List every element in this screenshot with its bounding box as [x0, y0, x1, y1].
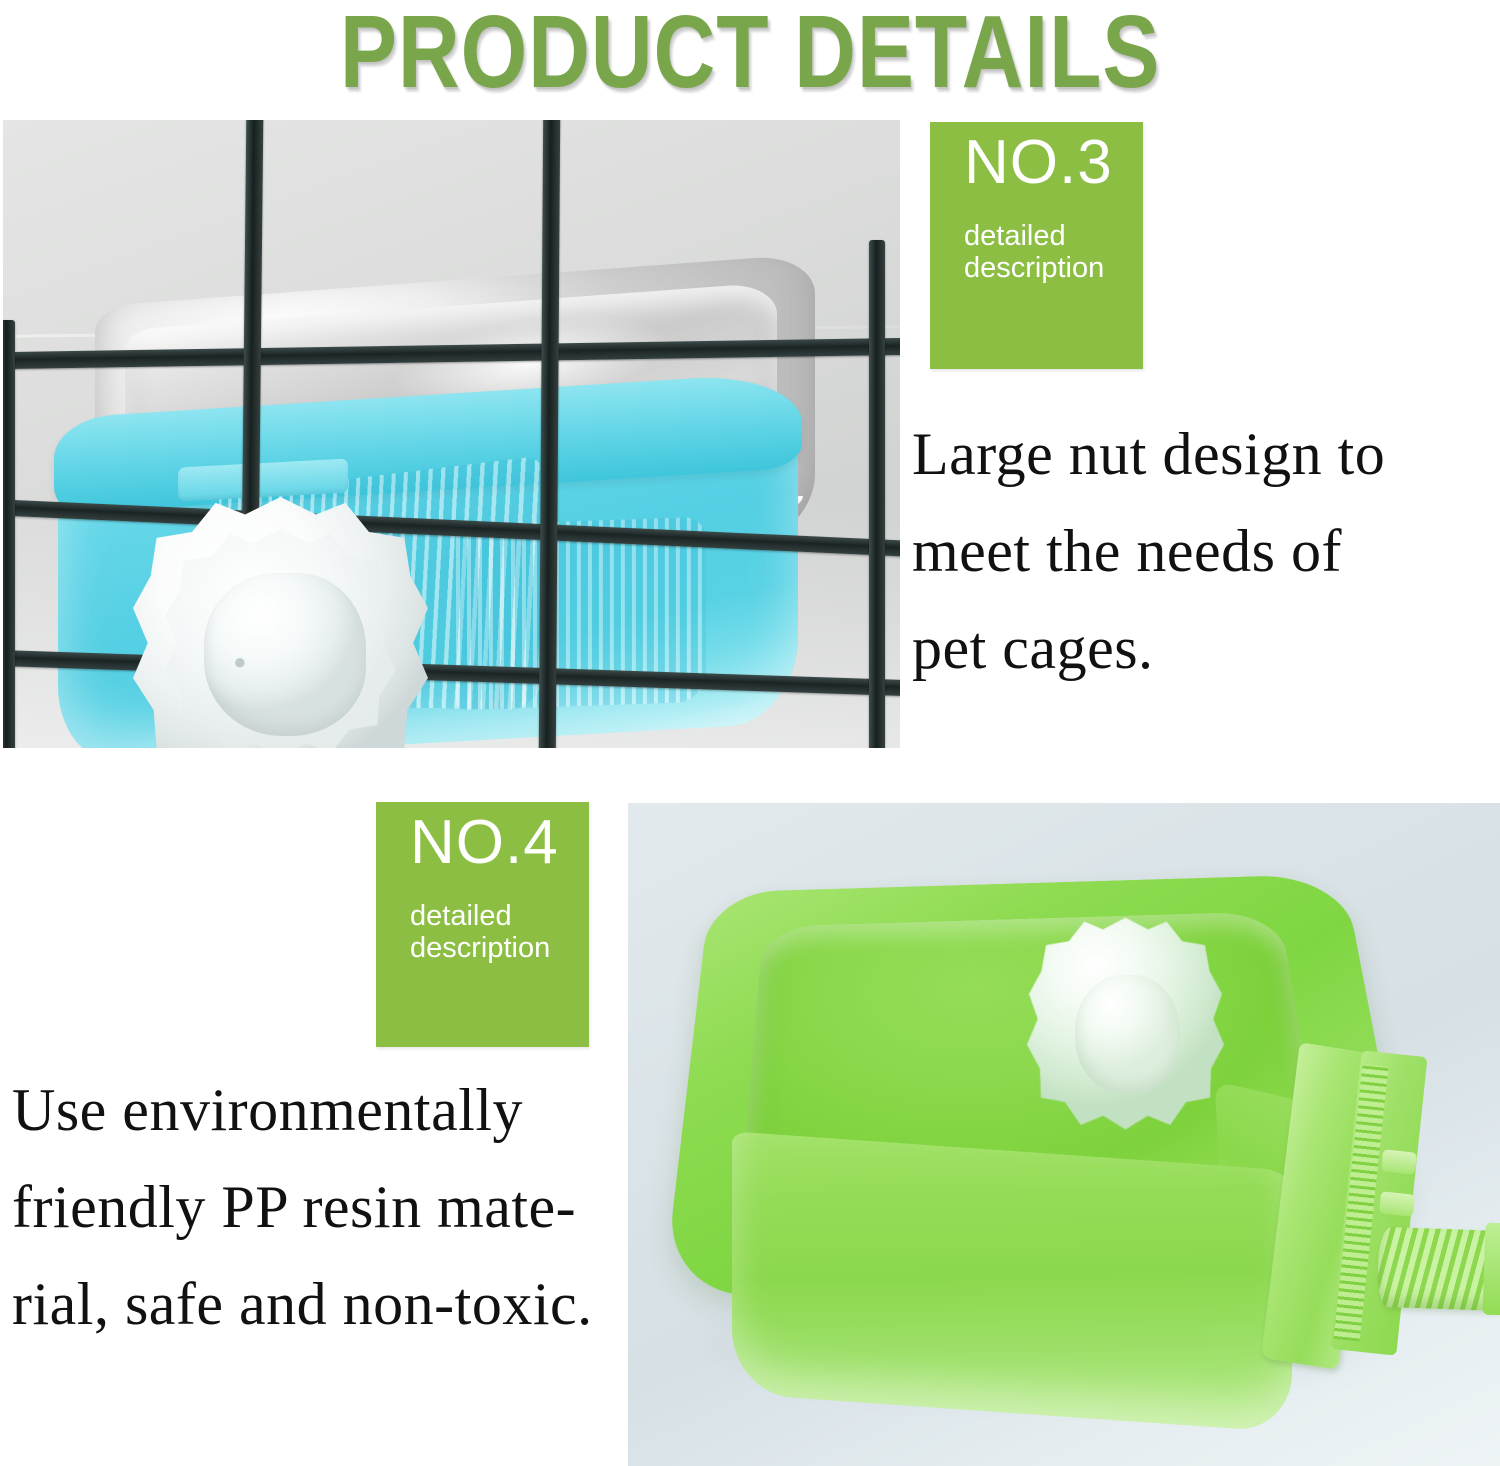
badge-no4-subtitle-line2: description — [410, 932, 550, 964]
description-no3-line-3: pet cages. — [912, 600, 1492, 697]
product-details-page: PRODUCT DETAILS — [0, 0, 1500, 1466]
badge-no3-subtitle-line2: description — [964, 252, 1104, 284]
mounting-bracket — [1270, 1047, 1500, 1387]
description-no4-line-2: friendly PP resin mate- — [12, 1159, 632, 1256]
description-no4-line-1: Use environmentally — [12, 1062, 632, 1159]
bowl-front-face — [732, 1131, 1292, 1432]
knob-cap — [204, 573, 366, 737]
cage-wire-vertical-left — [3, 320, 15, 748]
description-no3-line-2: meet the needs of — [912, 503, 1492, 600]
bracket-hook-lower — [1379, 1191, 1415, 1216]
badge-no3-subtitle: detailed description — [964, 220, 1104, 285]
description-no3-line-1: Large nut design to — [912, 406, 1492, 503]
white-nut-knob — [1028, 909, 1223, 1129]
badge-no3-number: NO.3 — [964, 130, 1113, 195]
knob-cap — [1075, 975, 1180, 1094]
badge-no3-subtitle-line1: detailed — [964, 220, 1066, 252]
bracket-hook-upper — [1381, 1149, 1417, 1174]
white-nut-knob: ● — [133, 497, 428, 748]
green-plastic-bowl — [680, 851, 1440, 1426]
badge-no4-subtitle: detailed description — [410, 900, 550, 965]
bracket-threaded-screw-post — [1377, 1227, 1500, 1312]
product-photo-no4 — [628, 803, 1500, 1466]
knob-embossed-mark: ● — [233, 649, 246, 675]
product-photo-no3: ● — [3, 120, 900, 748]
badge-no3: NO.3 detailed description — [930, 122, 1143, 369]
description-no3: Large nut design to meet the needs of pe… — [912, 406, 1492, 698]
page-title-text: PRODUCT DETAILS — [340, 0, 1160, 110]
badge-no4: NO.4 detailed description — [376, 802, 589, 1047]
badge-no4-number: NO.4 — [410, 810, 559, 875]
page-title: PRODUCT DETAILS — [0, 0, 1500, 98]
description-no4: Use environmentally friendly PP resin ma… — [12, 1062, 632, 1354]
badge-no4-subtitle-line1: detailed — [410, 900, 512, 932]
cage-wire-vertical-far-right — [869, 240, 885, 748]
description-no4-line-3: rial, safe and non-toxic. — [12, 1256, 632, 1353]
bracket-screw-end — [1482, 1223, 1500, 1316]
